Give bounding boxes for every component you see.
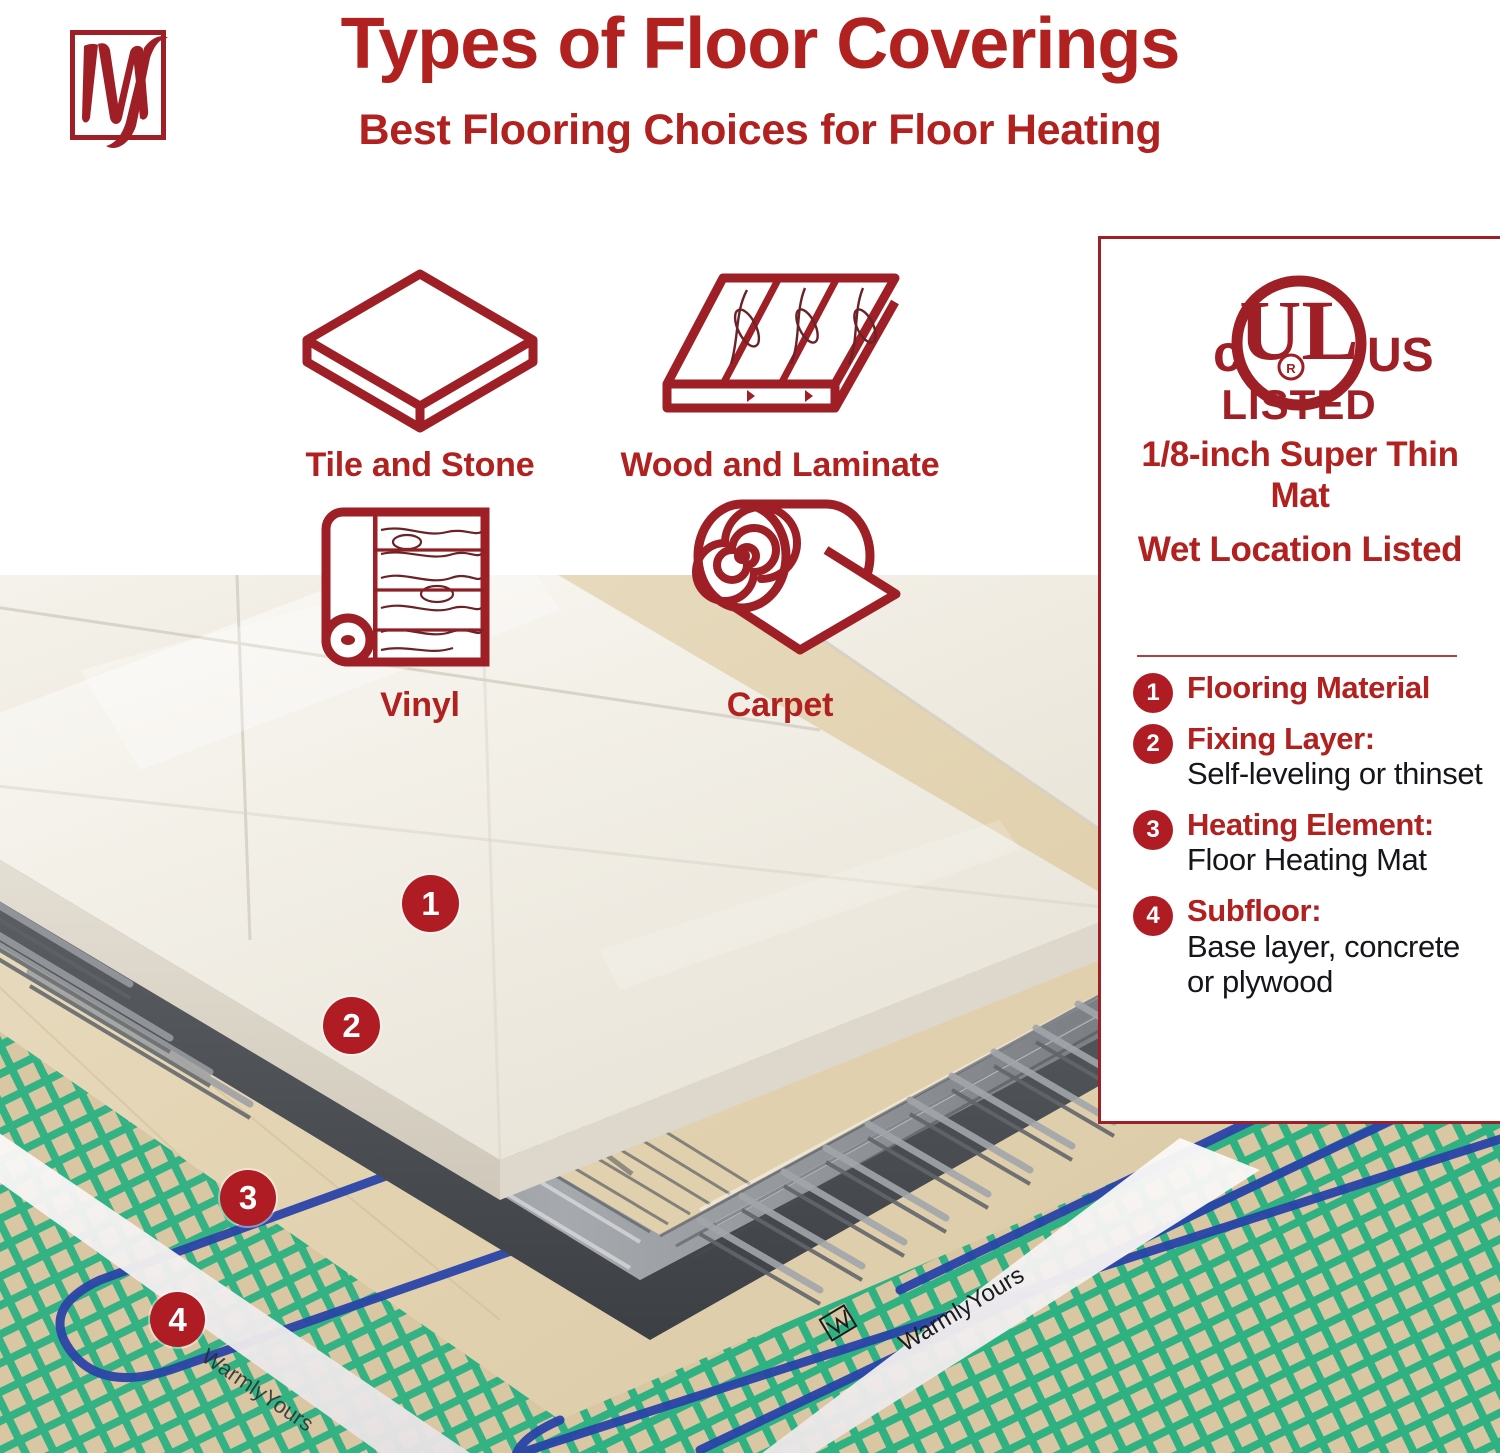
legend-item-1: 1 Flooring Material <box>1125 671 1491 706</box>
covering-label: Wood and Laminate <box>600 446 960 485</box>
legend-badge: 3 <box>1133 810 1173 850</box>
covering-label: Carpet <box>600 686 960 725</box>
carpet-roll-icon <box>600 490 960 680</box>
callout-badge-4: 4 <box>150 1292 205 1347</box>
tile-slab-icon <box>240 260 600 440</box>
covering-wood-and-laminate[interactable]: Wood and Laminate <box>600 260 960 485</box>
legend-item-3: 3 Heating Element: Floor Heating Mat <box>1125 808 1491 878</box>
panel-divider <box>1137 655 1457 657</box>
wy-monogram-icon <box>48 18 178 158</box>
legend-item-4: 4 Subfloor: Base layer, concrete or plyw… <box>1125 894 1491 999</box>
page-title: Types of Floor Coverings <box>170 8 1350 81</box>
ul-right-letters: US <box>1367 329 1434 382</box>
covering-label: Vinyl <box>240 686 600 725</box>
spec-line-2: Wet Location Listed <box>1129 530 1471 571</box>
legend-badge: 1 <box>1133 673 1173 713</box>
legend-desc: Self-leveling or thinset <box>1187 756 1491 791</box>
covering-label: Tile and Stone <box>240 446 600 485</box>
ul-listed-mark: c UL R US LISTED <box>1101 267 1497 427</box>
spec-panel: c UL R US LISTED 1/8-inch Super Thin Mat… <box>1098 236 1500 1124</box>
floor-covering-icons: Tile and Stone Woo <box>240 260 960 770</box>
callout-badge-1: 1 <box>402 875 459 932</box>
legend-item-2: 2 Fixing Layer: Self-leveling or thinset <box>1125 722 1491 792</box>
brand-logo <box>48 18 178 158</box>
legend-badge: 4 <box>1133 896 1173 936</box>
callout-badge-2: 2 <box>323 997 380 1054</box>
legend-title: Flooring Material <box>1187 671 1491 706</box>
layer-legend: 1 Flooring Material 2 Fixing Layer: Self… <box>1125 671 1491 1015</box>
legend-title: Subfloor: <box>1187 894 1491 929</box>
covering-vinyl[interactable]: Vinyl <box>240 490 600 725</box>
legend-desc: Floor Heating Mat <box>1187 842 1491 877</box>
callout-badge-3: 3 <box>220 1170 276 1226</box>
covering-carpet[interactable]: Carpet <box>600 490 960 725</box>
wood-plank-icon <box>600 260 960 440</box>
vinyl-roll-icon <box>240 490 600 680</box>
page-subtitle: Best Flooring Choices for Floor Heating <box>170 106 1350 155</box>
svg-text:R: R <box>1286 361 1296 376</box>
legend-desc: Base layer, concrete or plywood <box>1187 929 1491 1000</box>
legend-title: Heating Element: <box>1187 808 1491 843</box>
ul-listed-text: LISTED <box>1221 381 1376 427</box>
legend-badge: 2 <box>1133 724 1173 764</box>
legend-title: Fixing Layer: <box>1187 722 1491 757</box>
spec-line-1: 1/8-inch Super Thin Mat <box>1129 435 1471 516</box>
covering-tile-and-stone[interactable]: Tile and Stone <box>240 260 600 485</box>
header: Types of Floor Coverings Best Flooring C… <box>0 0 1500 200</box>
spec-text: 1/8-inch Super Thin Mat Wet Location Lis… <box>1129 435 1471 585</box>
